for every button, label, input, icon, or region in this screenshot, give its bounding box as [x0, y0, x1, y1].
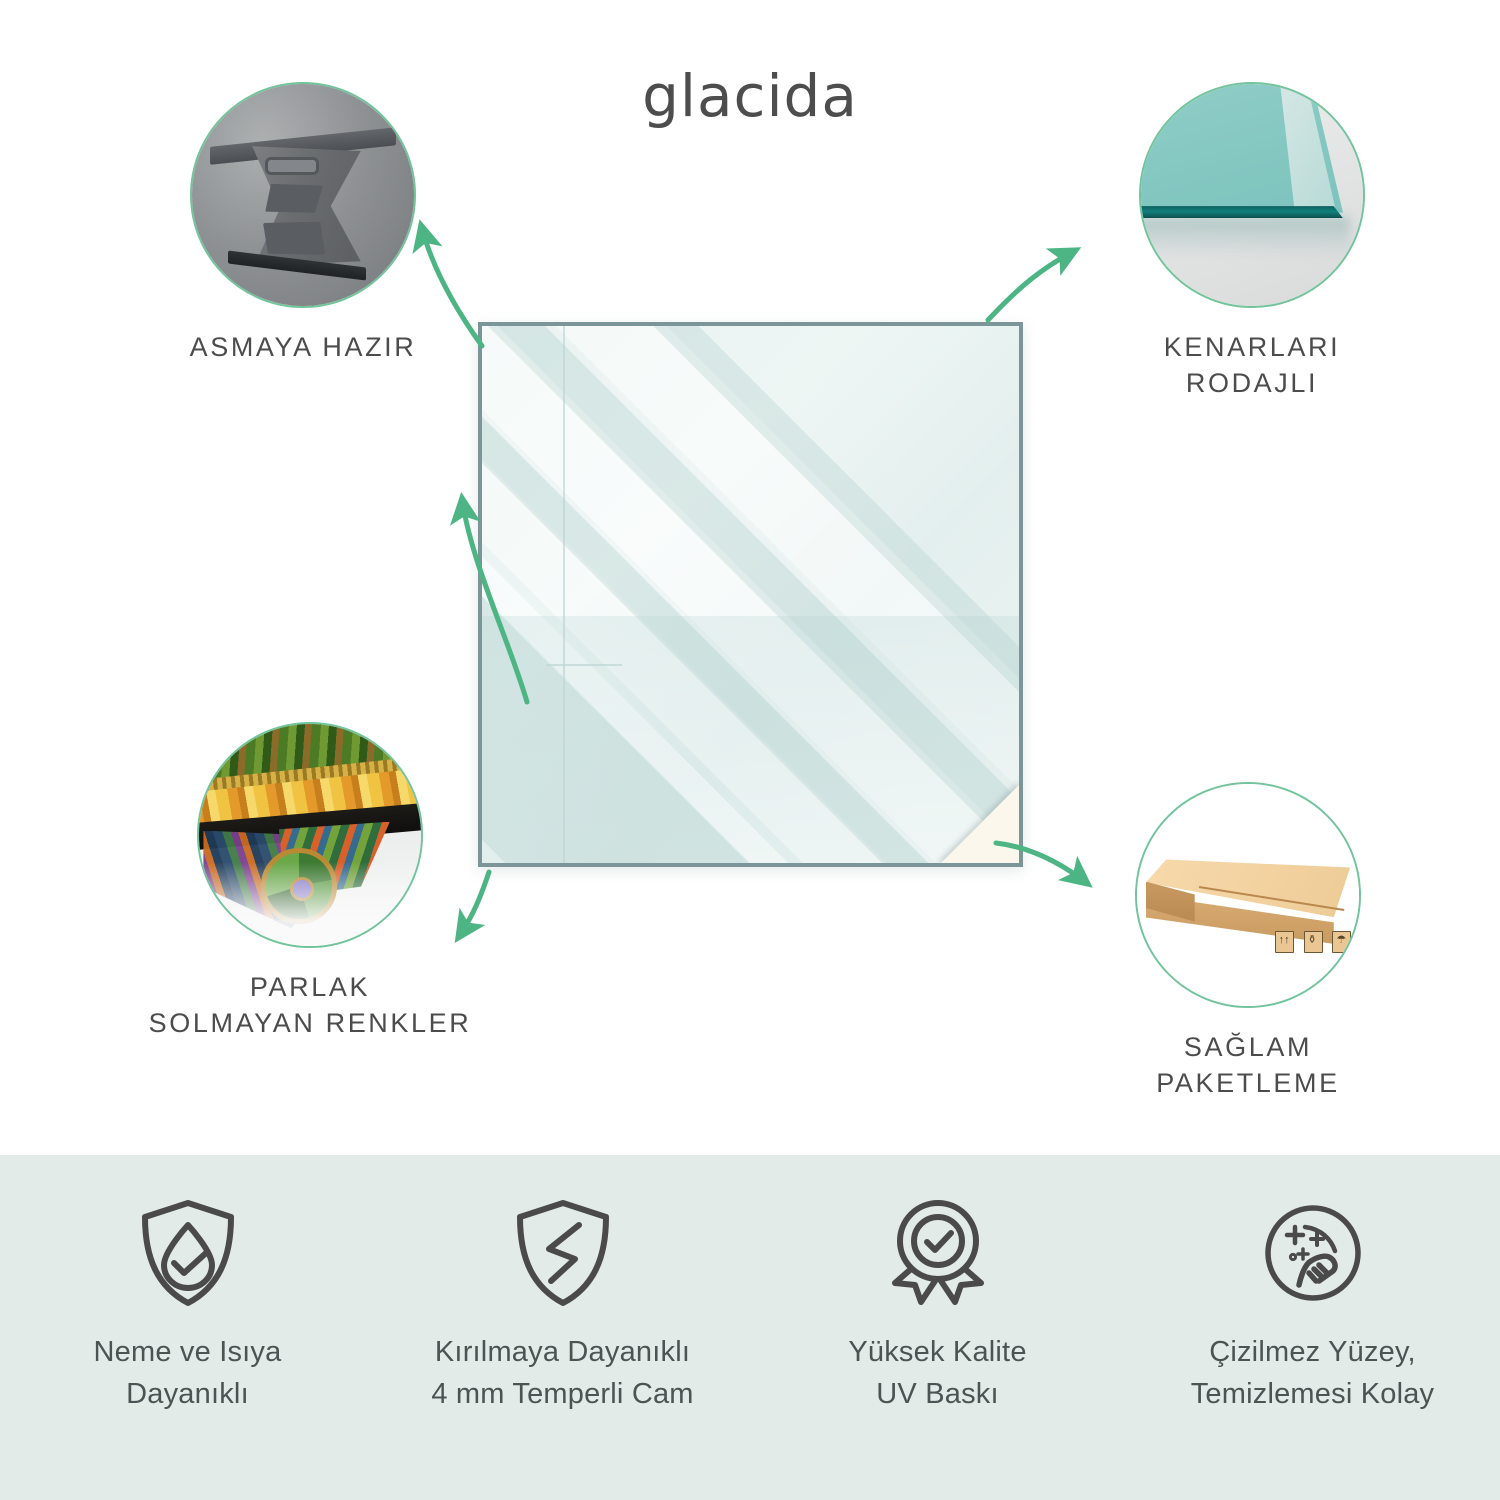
bottom-feature-bar: Neme ve Isıya Dayanıklı Kırılmaya Dayanı… [0, 1155, 1500, 1500]
bottom-feature-label-kirilmaya: Kırılmaya Dayanıklı 4 mm Temperli Cam [431, 1331, 693, 1415]
bottom-feature-yuksek-kalite-uv: Yüksek Kalite UV Baskı [760, 1197, 1115, 1415]
feature-label-asmaya-hazir: ASMAYA HAZIR [158, 330, 448, 366]
polished-glass-edge-photo [1139, 82, 1365, 308]
infographic-canvas: glacida ASMAYA HAZIR KENARLARI RODAJL [0, 0, 1500, 1500]
feature-label-saglam-paketleme: SAĞLAM PAKETLEME [1103, 1030, 1393, 1102]
bottom-feature-label-neme: Neme ve Isıya Dayanıklı [94, 1331, 282, 1415]
fragile-glass-symbol: ⚱ [1304, 931, 1323, 953]
award-medal-check-icon [883, 1197, 993, 1309]
bottom-feature-label-yuksek-kalite: Yüksek Kalite UV Baskı [848, 1331, 1026, 1415]
feature-label-kenarlari-rodajli: KENARLARI RODAJLI [1107, 330, 1397, 402]
bottom-feature-cizilmez-yuzey: Çizilmez Yüzey, Temizlemesi Kolay [1135, 1197, 1490, 1415]
feature-kenarlari-rodajli: KENARLARI RODAJLI [1107, 82, 1397, 402]
feature-parlak-solmayan-renkler: PARLAK SOLMAYAN RENKLER [165, 722, 455, 1042]
bottom-feature-label-cizilmez: Çizilmez Yüzey, Temizlemesi Kolay [1191, 1331, 1435, 1415]
tempered-glass-panel [478, 322, 1023, 867]
feature-label-parlak-solmayan-renkler: PARLAK SOLMAYAN RENKLER [100, 970, 520, 1042]
peeled-protective-film-corner [939, 783, 1021, 865]
feature-asmaya-hazir: ASMAYA HAZIR [158, 82, 448, 366]
shield-bolt-icon [511, 1197, 615, 1309]
stained-glass-mosaic-photo [197, 722, 423, 948]
this-way-up-symbol: ↑↑ [1275, 931, 1294, 953]
wall-mount-bracket-photo [190, 82, 416, 308]
arrow-to-kenarlari-rodajli [988, 250, 1076, 320]
bottom-feature-neme-isiya-dayanikli: Neme ve Isıya Dayanıklı [10, 1197, 365, 1415]
keep-dry-symbol: ☂ [1332, 931, 1351, 953]
feature-saglam-paketleme: ↑↑ ⚱ ☂ SAĞLAM PAKETLEME [1103, 782, 1393, 1102]
shield-waterdrop-check-icon [136, 1197, 240, 1309]
arrow-to-parlak-renkler-path [458, 872, 489, 938]
wiping-hand-sparkle-icon [1259, 1197, 1367, 1309]
cardboard-package-photo: ↑↑ ⚱ ☂ [1135, 782, 1361, 1008]
bottom-feature-kirilmaya-dayanikli: Kırılmaya Dayanıklı 4 mm Temperli Cam [385, 1197, 740, 1415]
